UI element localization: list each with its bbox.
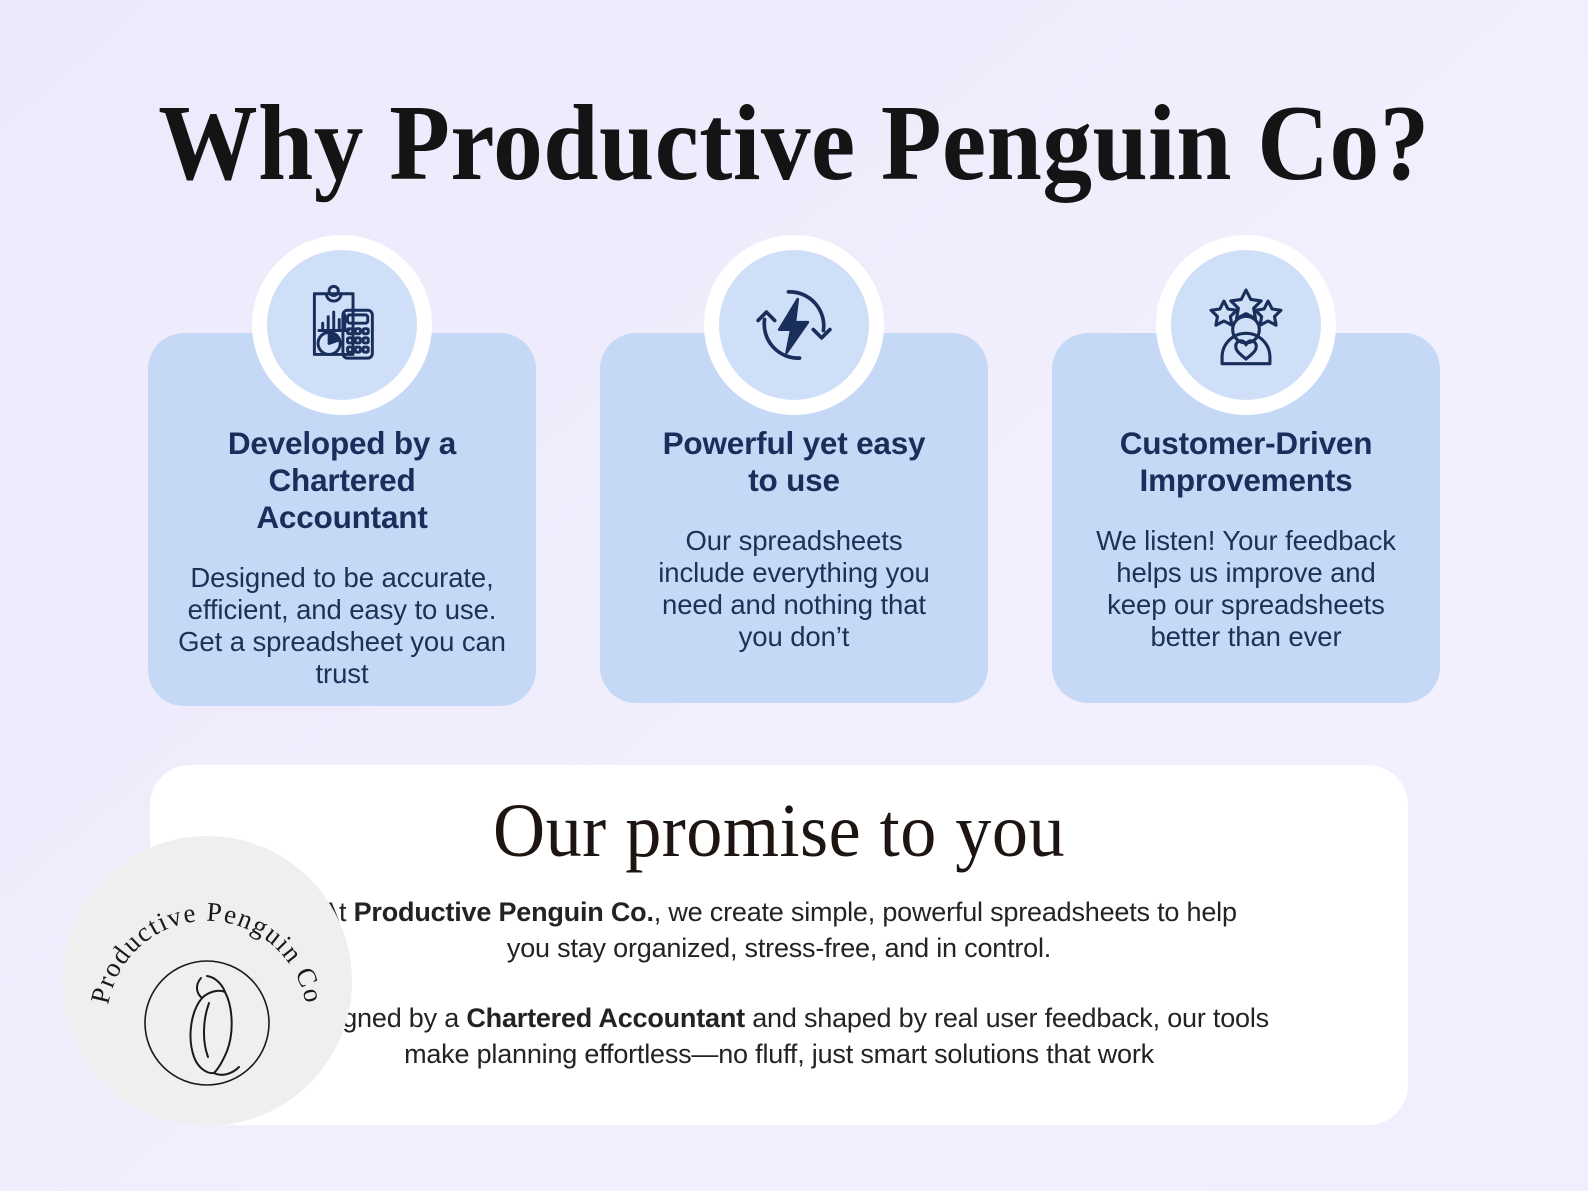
lightning-refresh-icon — [719, 250, 869, 400]
icon-badge — [252, 235, 432, 415]
feature-card-customer-driven: Customer-Driven Improvements We listen! … — [1052, 333, 1440, 703]
logo-curved-text: Productive Penguin Co — [85, 897, 330, 1007]
card-body: Designed to be accurate, efficient, and … — [170, 562, 514, 691]
penguin-logo-graphic: Productive Penguin Co — [77, 851, 337, 1111]
feature-card-powerful-easy: Powerful yet easy to use Our spreadsheet… — [600, 333, 988, 703]
card-heading: Customer-Driven Improvements — [1074, 425, 1418, 499]
card-body: We listen! Your feedback helps us improv… — [1074, 525, 1418, 654]
customer-stars-heart-icon — [1171, 250, 1321, 400]
feature-cards-row: Developed by a Chartered Accountant Desi… — [148, 333, 1440, 706]
icon-badge — [1156, 235, 1336, 415]
icon-badge — [704, 235, 884, 415]
clipboard-chart-calculator-icon — [267, 250, 417, 400]
promise-p1-bold: Productive Penguin Co. — [354, 897, 654, 927]
promise-p2-bold: Chartered Accountant — [466, 1003, 745, 1033]
productive-penguin-logo: Productive Penguin Co — [62, 836, 352, 1126]
promise-title: Our promise to you — [181, 765, 1376, 869]
card-heading: Powerful yet easy to use — [622, 425, 966, 499]
page-title: Why Productive Penguin Co? — [64, 86, 1525, 203]
card-body: Our spreadsheets include everything you … — [622, 525, 966, 654]
card-heading: Developed by a Chartered Accountant — [170, 425, 514, 536]
feature-card-developed-by-ca: Developed by a Chartered Accountant Desi… — [148, 333, 536, 706]
